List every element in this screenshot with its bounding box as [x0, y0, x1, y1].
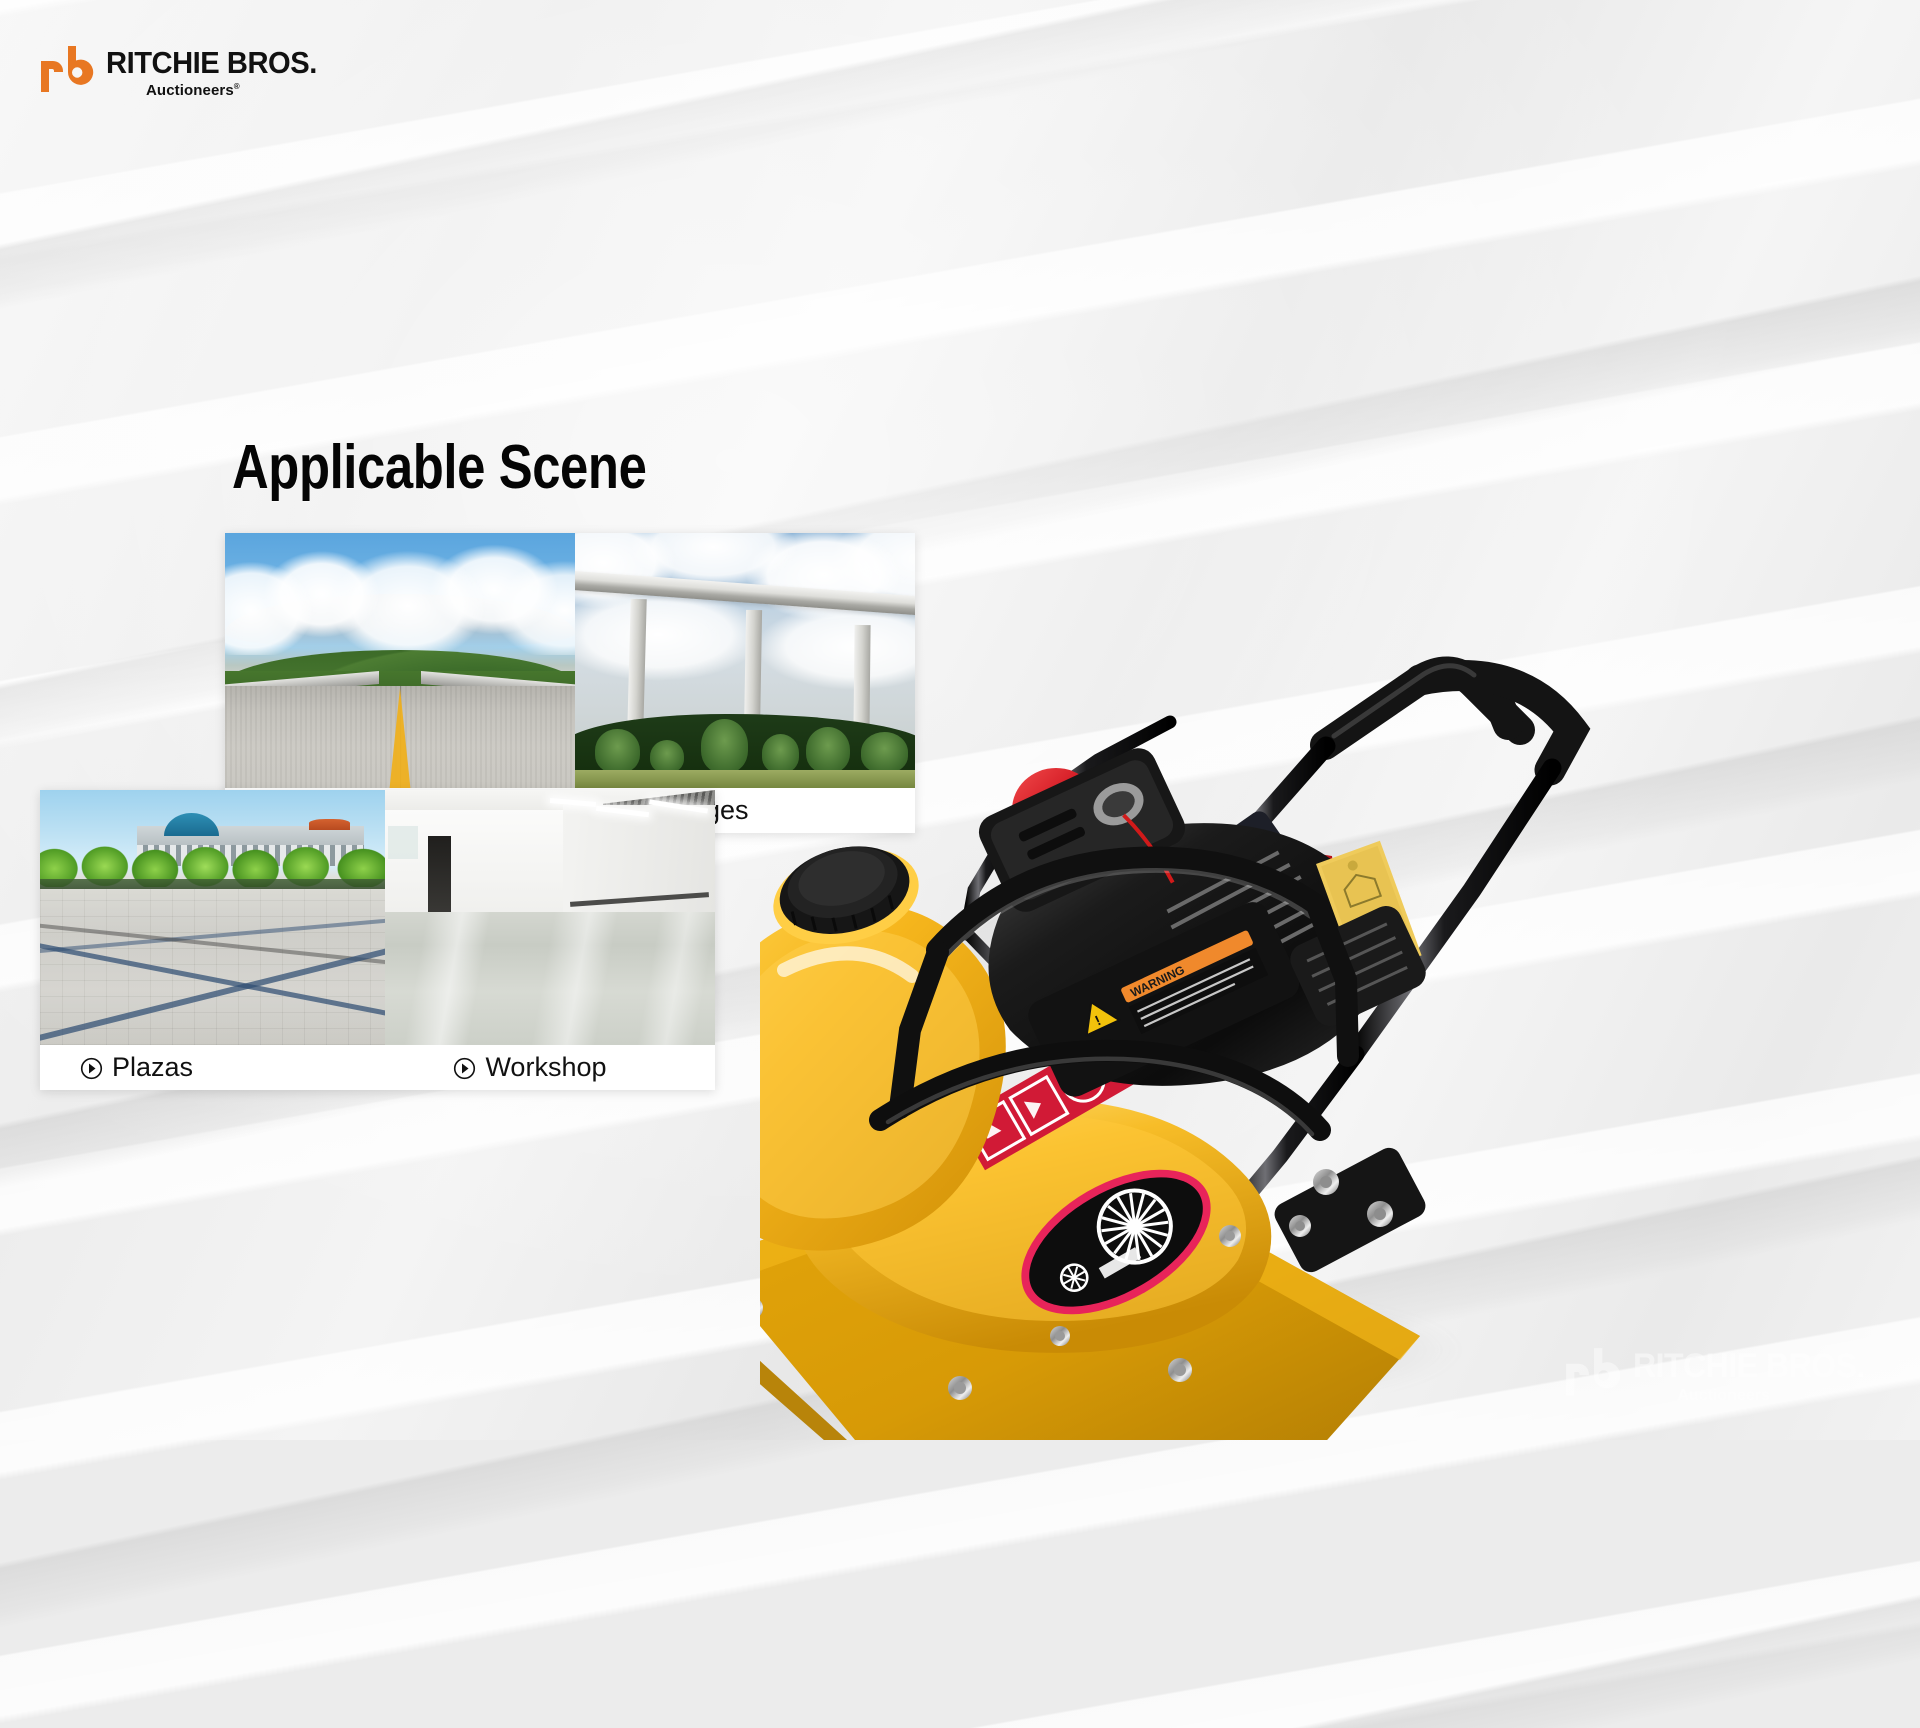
brand-name: RITCHIE BROS.: [106, 47, 317, 78]
scene-label-text: Workshop: [485, 1052, 606, 1083]
scene-image-plazas: [40, 790, 385, 1045]
brand-logo: RITCHIE BROS. Auctioneers®: [38, 44, 330, 98]
scene-thumbnail-row: [40, 790, 715, 1045]
scene-image-highway: [225, 533, 575, 788]
scene-card-bottom: Plazas Workshop: [40, 790, 715, 1090]
circled-play-arrow-icon: [453, 1056, 476, 1079]
brand-logo-text: RITCHIE BROS. Auctioneers®: [106, 44, 330, 98]
watermark-brand-name: RITCHIE BROS.: [1633, 1349, 1865, 1383]
watermark-tagline: Auctioneers: [1677, 1388, 1880, 1404]
product-image-plate-compactor: !: [760, 330, 1920, 1440]
brand-watermark: RITCHIE BROS. Auctioneers: [1563, 1346, 1880, 1404]
scene-image-workshop: [385, 790, 715, 1045]
scene-label-plazas: Plazas: [40, 1045, 353, 1090]
scene-label-text: Plazas: [112, 1052, 193, 1083]
watermark-text: RITCHIE BROS. Auctioneers: [1633, 1346, 1880, 1404]
mount-hardware: [1270, 1144, 1429, 1277]
page-title: Applicable Scene: [232, 432, 646, 503]
scene-label-row: Plazas Workshop: [40, 1045, 715, 1090]
circled-play-arrow-icon: [80, 1056, 103, 1079]
rb-mark-icon: [1563, 1346, 1621, 1398]
rb-mark-icon: [38, 44, 94, 94]
scene-label-workshop: Workshop: [353, 1045, 715, 1090]
brand-tagline: Auctioneers®: [146, 83, 330, 98]
